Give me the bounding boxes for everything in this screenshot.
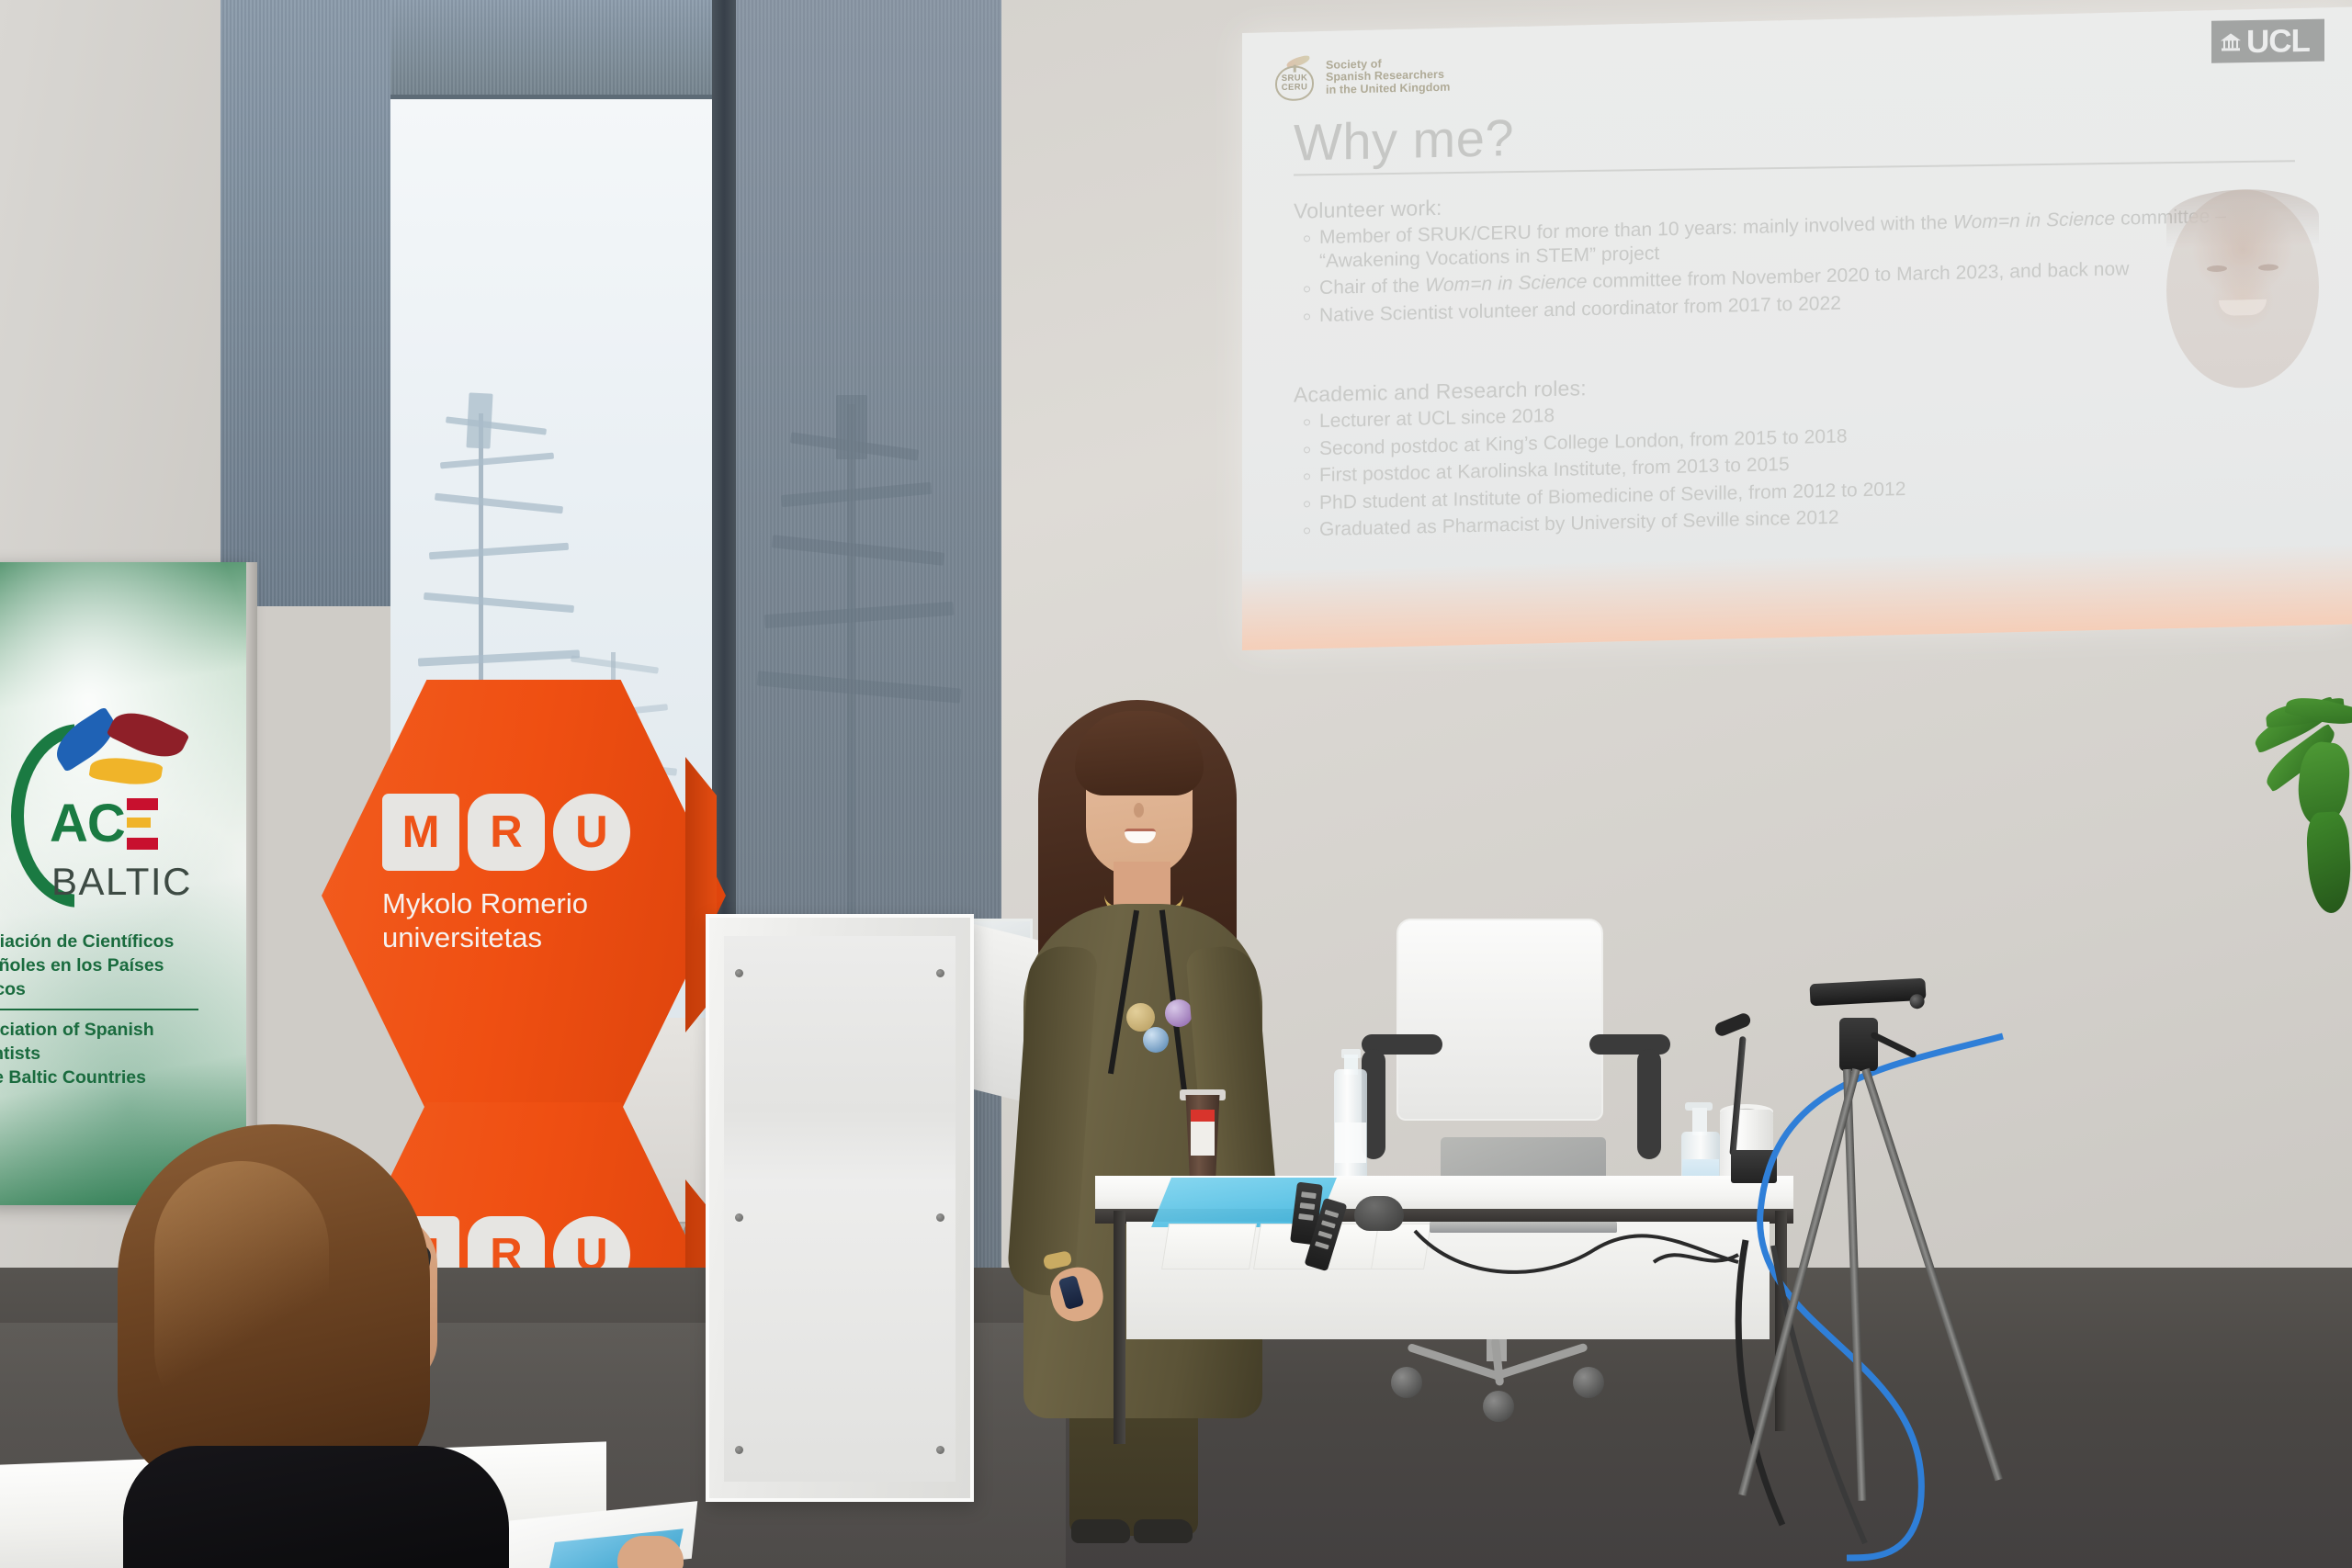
ace-baltic-banner: AC BALTIC Asociación de Científicos Espa… bbox=[0, 562, 246, 1205]
pin-badge-purple bbox=[1165, 999, 1193, 1027]
office-chair-back bbox=[1396, 919, 1603, 1121]
ace-subtitle: BALTIC bbox=[51, 860, 192, 904]
mru-name-line2: universitetas bbox=[382, 920, 667, 954]
ace-english-1: Association of Spanish Scientists bbox=[0, 1018, 232, 1066]
tree-silhouette-through-blind bbox=[735, 395, 1001, 946]
apple-icon: SRUK CERU bbox=[1273, 55, 1316, 102]
desk-leg-left bbox=[1114, 1211, 1125, 1444]
foreground-hand bbox=[617, 1536, 684, 1568]
camera-lens-icon bbox=[1909, 994, 1925, 1010]
ucl-logo: UCL bbox=[2211, 19, 2324, 63]
projected-slide: SRUK CERU Society of Spanish Researchers… bbox=[1242, 7, 2352, 650]
roller-blind-left bbox=[220, 0, 390, 606]
audience-member bbox=[118, 1124, 503, 1568]
section-heading-volunteer: Volunteer work: bbox=[1294, 196, 1442, 224]
section-heading-academic: Academic and Research roles: bbox=[1294, 376, 1587, 408]
mru-letter-r: R bbox=[468, 794, 545, 871]
ace-acronym-ac: AC bbox=[50, 797, 125, 851]
volunteer-bullet-list: Member of SRUK/CERU for more than 10 yea… bbox=[1299, 204, 2273, 332]
mru-letter-u: U bbox=[553, 794, 630, 871]
mru-letter-m: M bbox=[382, 794, 459, 871]
mru-logo-upper: M R U Mykolo Romerio universitetas bbox=[382, 794, 667, 954]
portico-icon bbox=[2221, 31, 2241, 51]
ace-spanish-1: Asociación de Científicos bbox=[0, 930, 232, 953]
pin-badge-blue bbox=[1143, 1027, 1169, 1053]
ace-banner-text: Asociación de Científicos Españoles en l… bbox=[0, 930, 232, 1089]
ace-acronym-e bbox=[127, 798, 158, 850]
yellow-leaf-icon bbox=[88, 753, 163, 789]
presentation-room-photo: SRUK CERU Society of Spanish Researchers… bbox=[0, 0, 2352, 1568]
sruk-abbr-bottom: CERU bbox=[1278, 83, 1311, 93]
ucl-wordmark: UCL bbox=[2246, 24, 2310, 57]
slide-title: Why me? bbox=[1294, 107, 1514, 173]
sruk-line-3: in the United Kingdom bbox=[1326, 81, 1450, 96]
webcam bbox=[1809, 978, 1926, 1007]
sruk-ceru-logo: SRUK CERU Society of Spanish Researchers… bbox=[1273, 52, 1450, 103]
printed-paper-1 bbox=[1161, 1224, 1257, 1269]
ace-baltic-logo: AC BALTIC bbox=[11, 680, 222, 909]
acrylic-lectern bbox=[706, 914, 974, 1502]
roller-blind-top bbox=[390, 0, 712, 99]
camera-tripod bbox=[1753, 970, 1973, 1521]
potted-plant bbox=[2242, 694, 2352, 988]
ace-english-2: in the Baltic Countries bbox=[0, 1066, 232, 1089]
speaker-portrait-photo bbox=[2166, 187, 2319, 389]
ace-spanish-2: Españoles en los Países Bálticos bbox=[0, 953, 232, 1001]
mru-name-line1: Mykolo Romerio bbox=[382, 886, 667, 920]
academic-bullet-list: Lecturer at UCL since 2018 Second postdo… bbox=[1299, 389, 2163, 546]
